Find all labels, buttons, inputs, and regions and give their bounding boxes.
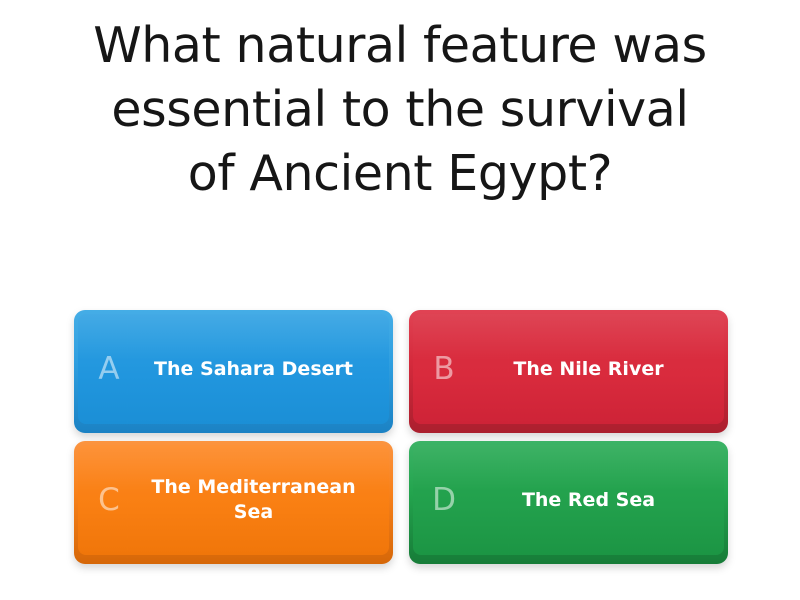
question-text: What natural feature was essential to th… [90, 14, 710, 206]
answer-letter-a: A [86, 354, 132, 385]
answer-letter-b: B [421, 354, 467, 385]
answer-letter-c: C [86, 485, 132, 516]
answer-label-b: The Nile River [467, 357, 714, 382]
answer-card-d-face: D The Red Sea [413, 445, 724, 555]
quiz-stage: What natural feature was essential to th… [0, 0, 800, 600]
answer-card-c-face: C The Mediterranean Sea [78, 445, 389, 555]
answer-card-b[interactable]: B The Nile River [409, 310, 728, 433]
answer-grid: A The Sahara Desert B The Nile River C T… [74, 310, 728, 564]
answer-label-d: The Red Sea [467, 488, 714, 513]
answer-label-c: The Mediterranean Sea [132, 475, 379, 525]
answer-card-a[interactable]: A The Sahara Desert [74, 310, 393, 433]
answer-card-d[interactable]: D The Red Sea [409, 441, 728, 564]
answer-card-b-face: B The Nile River [413, 314, 724, 424]
answer-card-c[interactable]: C The Mediterranean Sea [74, 441, 393, 564]
answer-card-a-face: A The Sahara Desert [78, 314, 389, 424]
question-area: What natural feature was essential to th… [0, 0, 800, 300]
answer-label-a: The Sahara Desert [132, 357, 379, 382]
answer-letter-d: D [421, 485, 467, 516]
